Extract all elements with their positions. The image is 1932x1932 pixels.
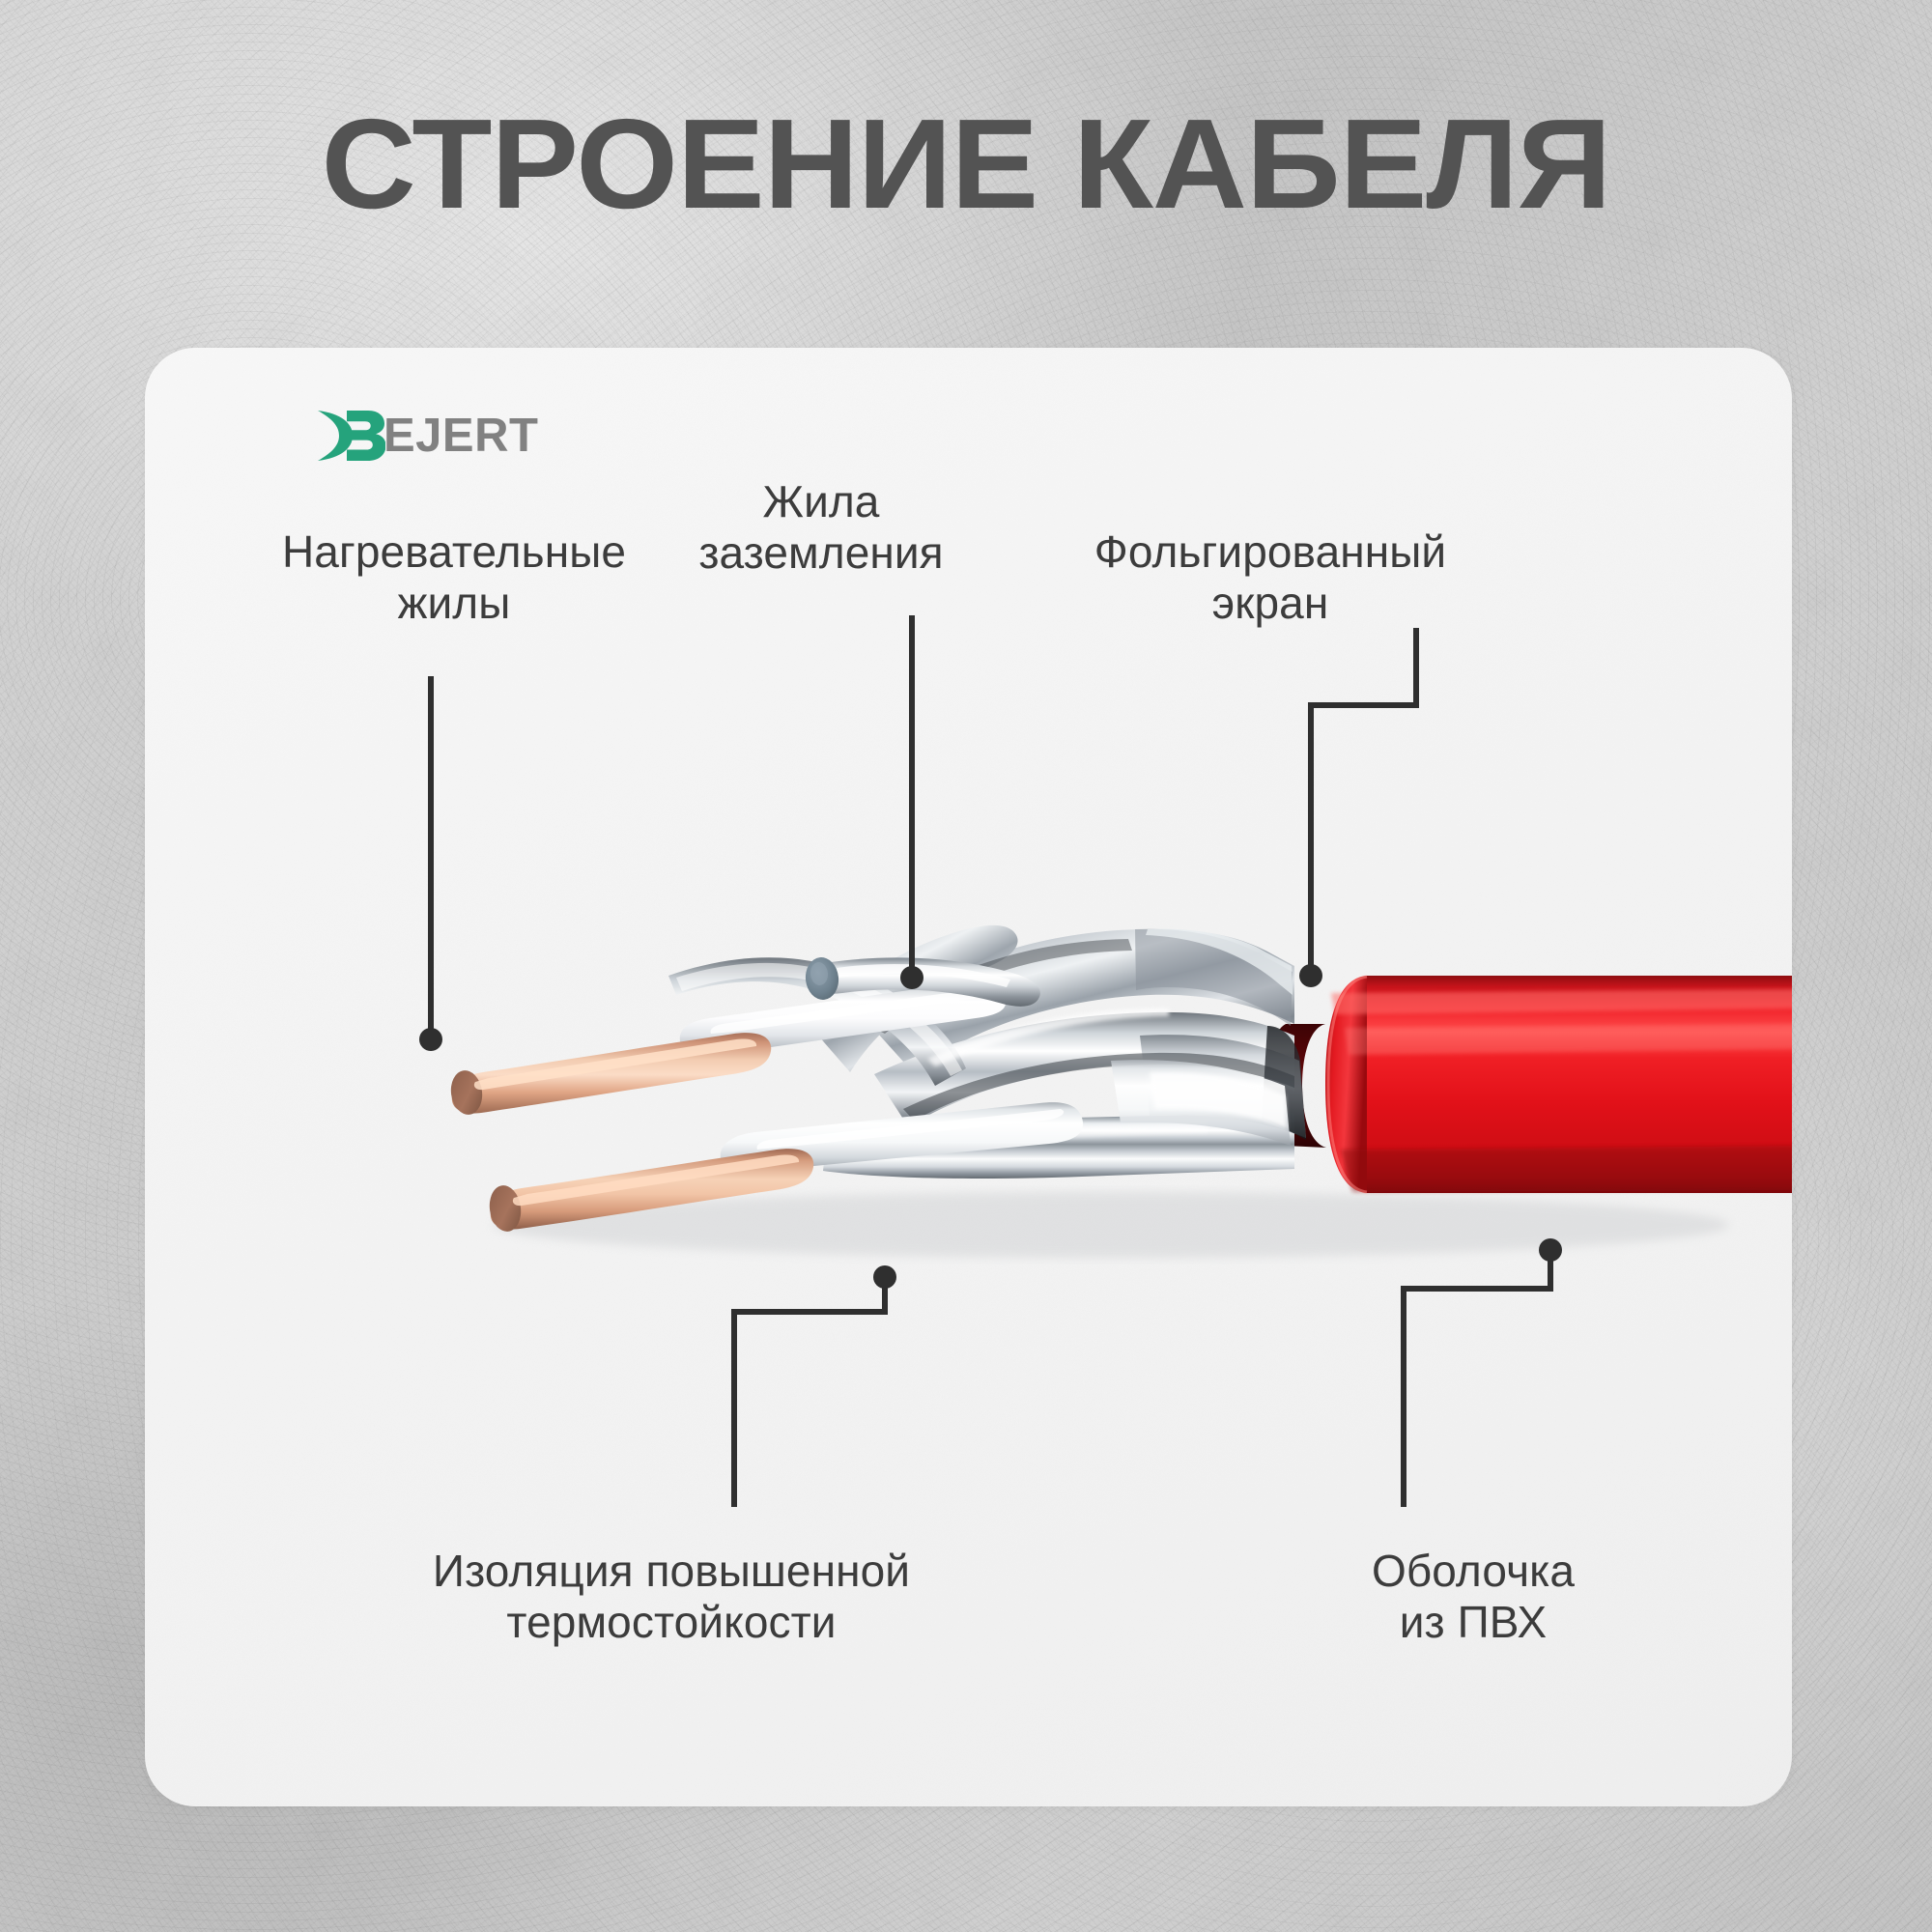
pvc-sheath (1267, 976, 1797, 1193)
callout-label-foil-shield: Фольгированный экран (971, 526, 1570, 630)
callout-label-heat-insulation: Изоляция повышенной термостойкости (290, 1546, 1053, 1649)
callout-label-ground-core: Жила заземления (609, 476, 1034, 580)
callout-label-pvc-sheath: Оболочка из ПВХ (1251, 1546, 1695, 1649)
